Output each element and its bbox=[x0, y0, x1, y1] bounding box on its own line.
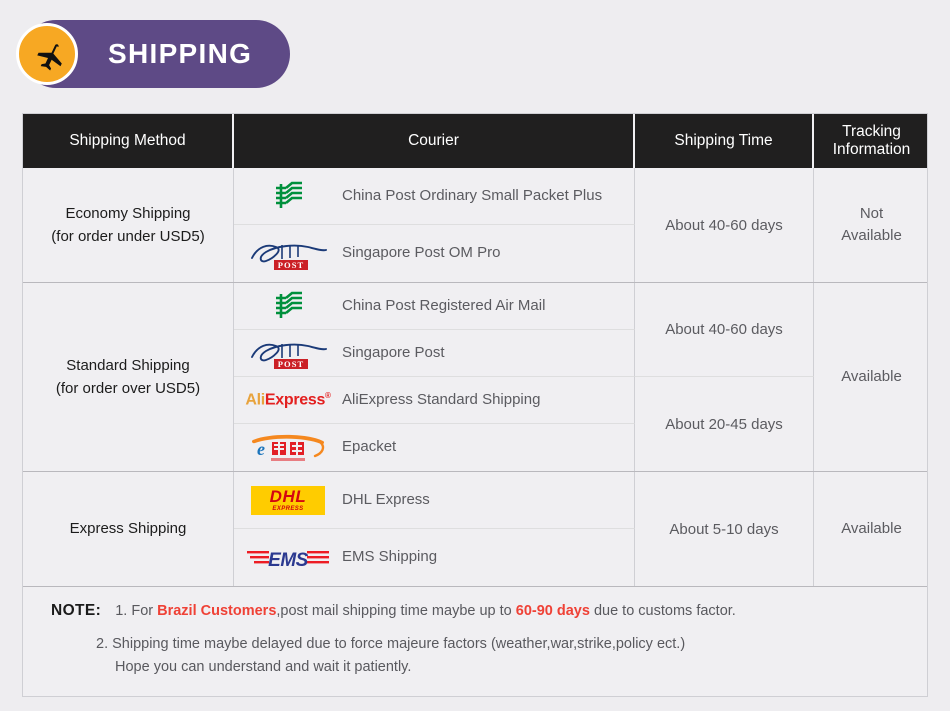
note-2-line2: Hope you can understand and wait it pati… bbox=[96, 656, 927, 679]
note-label: NOTE: bbox=[51, 602, 101, 620]
aliexpress-logo: AliExpress® bbox=[234, 391, 342, 409]
singapore-post-logo: POST bbox=[234, 237, 342, 271]
courier-name: AliExpress Standard Shipping bbox=[342, 390, 548, 410]
tracking-list-express: Available bbox=[814, 472, 929, 586]
dhl-logo: DHL EXPRESS bbox=[234, 486, 342, 515]
svg-text:POST: POST bbox=[278, 260, 305, 270]
method-note-economy: (for order under USD5) bbox=[51, 225, 204, 248]
courier-list-standard: China Post Registered Air Mail POST Sing… bbox=[234, 283, 635, 471]
shipping-table: Shipping Method Courier Shipping Time Tr… bbox=[22, 113, 928, 697]
courier-name: Singapore Post OM Pro bbox=[342, 243, 508, 263]
shipping-banner: SHIPPING bbox=[22, 20, 290, 88]
header-tracking-line1: Tracking bbox=[833, 123, 911, 141]
method-name-standard: Standard Shipping bbox=[56, 354, 200, 377]
courier-name: Singapore Post bbox=[342, 343, 453, 363]
note-1-part1: For bbox=[131, 603, 157, 619]
note-1-number: 1. bbox=[115, 603, 127, 619]
note-2-number: 2. bbox=[96, 636, 108, 652]
airplane-icon bbox=[16, 23, 78, 85]
china-post-logo bbox=[234, 179, 342, 213]
shipping-time-value: About 40-60 days bbox=[635, 168, 814, 282]
courier-name: DHL Express bbox=[342, 490, 438, 510]
courier-row: POST Singapore Post bbox=[234, 330, 635, 377]
time-list-express: About 5-10 days bbox=[635, 472, 814, 586]
method-note-standard: (for order over USD5) bbox=[56, 377, 200, 400]
method-name-economy: Economy Shipping bbox=[51, 202, 204, 225]
note-1-highlight-days: 60-90 days bbox=[516, 603, 590, 619]
epacket-logo: e bbox=[234, 431, 342, 465]
tracking-status: Available bbox=[814, 472, 929, 586]
note-2-line1: Shipping time maybe delayed due to force… bbox=[112, 636, 685, 652]
banner-pill: SHIPPING bbox=[22, 20, 290, 88]
method-cell-standard: Standard Shipping (for order over USD5) bbox=[23, 283, 234, 471]
tracking-status: Not Available bbox=[814, 168, 929, 282]
tracking-status-line1: Not bbox=[841, 203, 902, 225]
section-express-shipping: Express Shipping DHL EXPRESS DHL Express bbox=[23, 472, 927, 587]
shipping-time-value: About 5-10 days bbox=[635, 472, 814, 586]
courier-row: China Post Registered Air Mail bbox=[234, 283, 635, 330]
svg-text:EMS: EMS bbox=[268, 550, 309, 571]
dhl-logo-sub: EXPRESS bbox=[272, 506, 303, 512]
courier-list-economy: China Post Ordinary Small Packet Plus PO… bbox=[234, 168, 635, 282]
ems-logo: EMS bbox=[234, 543, 342, 573]
shipping-time-value: About 20-45 days bbox=[635, 377, 814, 471]
note-1-part2: ,post mail shipping time maybe up to bbox=[276, 603, 515, 619]
singapore-post-logo: POST bbox=[234, 336, 342, 370]
shipping-info-page: SHIPPING Shipping Method Courier Shippin… bbox=[0, 0, 950, 711]
note-item-1: NOTE: 1. For Brazil Customers,post mail … bbox=[23, 601, 927, 623]
table-header-row: Shipping Method Courier Shipping Time Tr… bbox=[23, 114, 927, 168]
tracking-list-standard: Available bbox=[814, 283, 929, 471]
header-shipping-time: Shipping Time bbox=[635, 114, 814, 168]
dhl-logo-main: DHL bbox=[270, 488, 307, 505]
header-tracking-line2: Information bbox=[833, 141, 911, 159]
tracking-list-economy: Not Available bbox=[814, 168, 929, 282]
header-courier: Courier bbox=[234, 114, 635, 168]
svg-text:e: e bbox=[257, 439, 265, 459]
time-list-standard: About 40-60 days About 20-45 days bbox=[635, 283, 814, 471]
note-1-highlight-brazil: Brazil Customers bbox=[157, 603, 276, 619]
banner-title: SHIPPING bbox=[108, 38, 252, 70]
header-tracking-information: Tracking Information bbox=[814, 114, 929, 168]
courier-row: e Epacket bbox=[234, 424, 635, 471]
note-1-text: 1. For Brazil Customers,post mail shippi… bbox=[115, 601, 736, 623]
courier-row: POST Singapore Post OM Pro bbox=[234, 225, 635, 282]
courier-row: China Post Ordinary Small Packet Plus bbox=[234, 168, 635, 225]
shipping-time-value: About 40-60 days bbox=[635, 283, 814, 377]
tracking-status-line2: Available bbox=[841, 225, 902, 247]
china-post-logo bbox=[234, 289, 342, 323]
courier-list-express: DHL EXPRESS DHL Express bbox=[234, 472, 635, 586]
svg-text:POST: POST bbox=[278, 359, 305, 369]
courier-row: DHL EXPRESS DHL Express bbox=[234, 472, 635, 529]
section-standard-shipping: Standard Shipping (for order over USD5) bbox=[23, 283, 927, 472]
note-item-2: 2. Shipping time maybe delayed due to fo… bbox=[23, 633, 927, 680]
courier-name: China Post Ordinary Small Packet Plus bbox=[342, 186, 610, 206]
note-1-part3: due to customs factor. bbox=[590, 603, 736, 619]
courier-name: Epacket bbox=[342, 437, 404, 457]
courier-name: EMS Shipping bbox=[342, 547, 445, 567]
aliexpress-logo-express: Express bbox=[265, 391, 325, 408]
time-list-economy: About 40-60 days bbox=[635, 168, 814, 282]
notes-section: NOTE: 1. For Brazil Customers,post mail … bbox=[23, 587, 927, 696]
method-name-express: Express Shipping bbox=[70, 517, 187, 540]
header-shipping-method: Shipping Method bbox=[23, 114, 234, 168]
courier-row: AliExpress® AliExpress Standard Shipping bbox=[234, 377, 635, 424]
section-economy-shipping: Economy Shipping (for order under USD5) bbox=[23, 168, 927, 283]
tracking-status: Available bbox=[814, 283, 929, 471]
courier-row: EMS EMS Shipping bbox=[234, 529, 635, 586]
aliexpress-logo-mark: ® bbox=[325, 391, 331, 400]
courier-name: China Post Registered Air Mail bbox=[342, 296, 553, 316]
method-cell-economy: Economy Shipping (for order under USD5) bbox=[23, 168, 234, 282]
method-cell-express: Express Shipping bbox=[23, 472, 234, 586]
aliexpress-logo-ali: Ali bbox=[245, 391, 265, 408]
